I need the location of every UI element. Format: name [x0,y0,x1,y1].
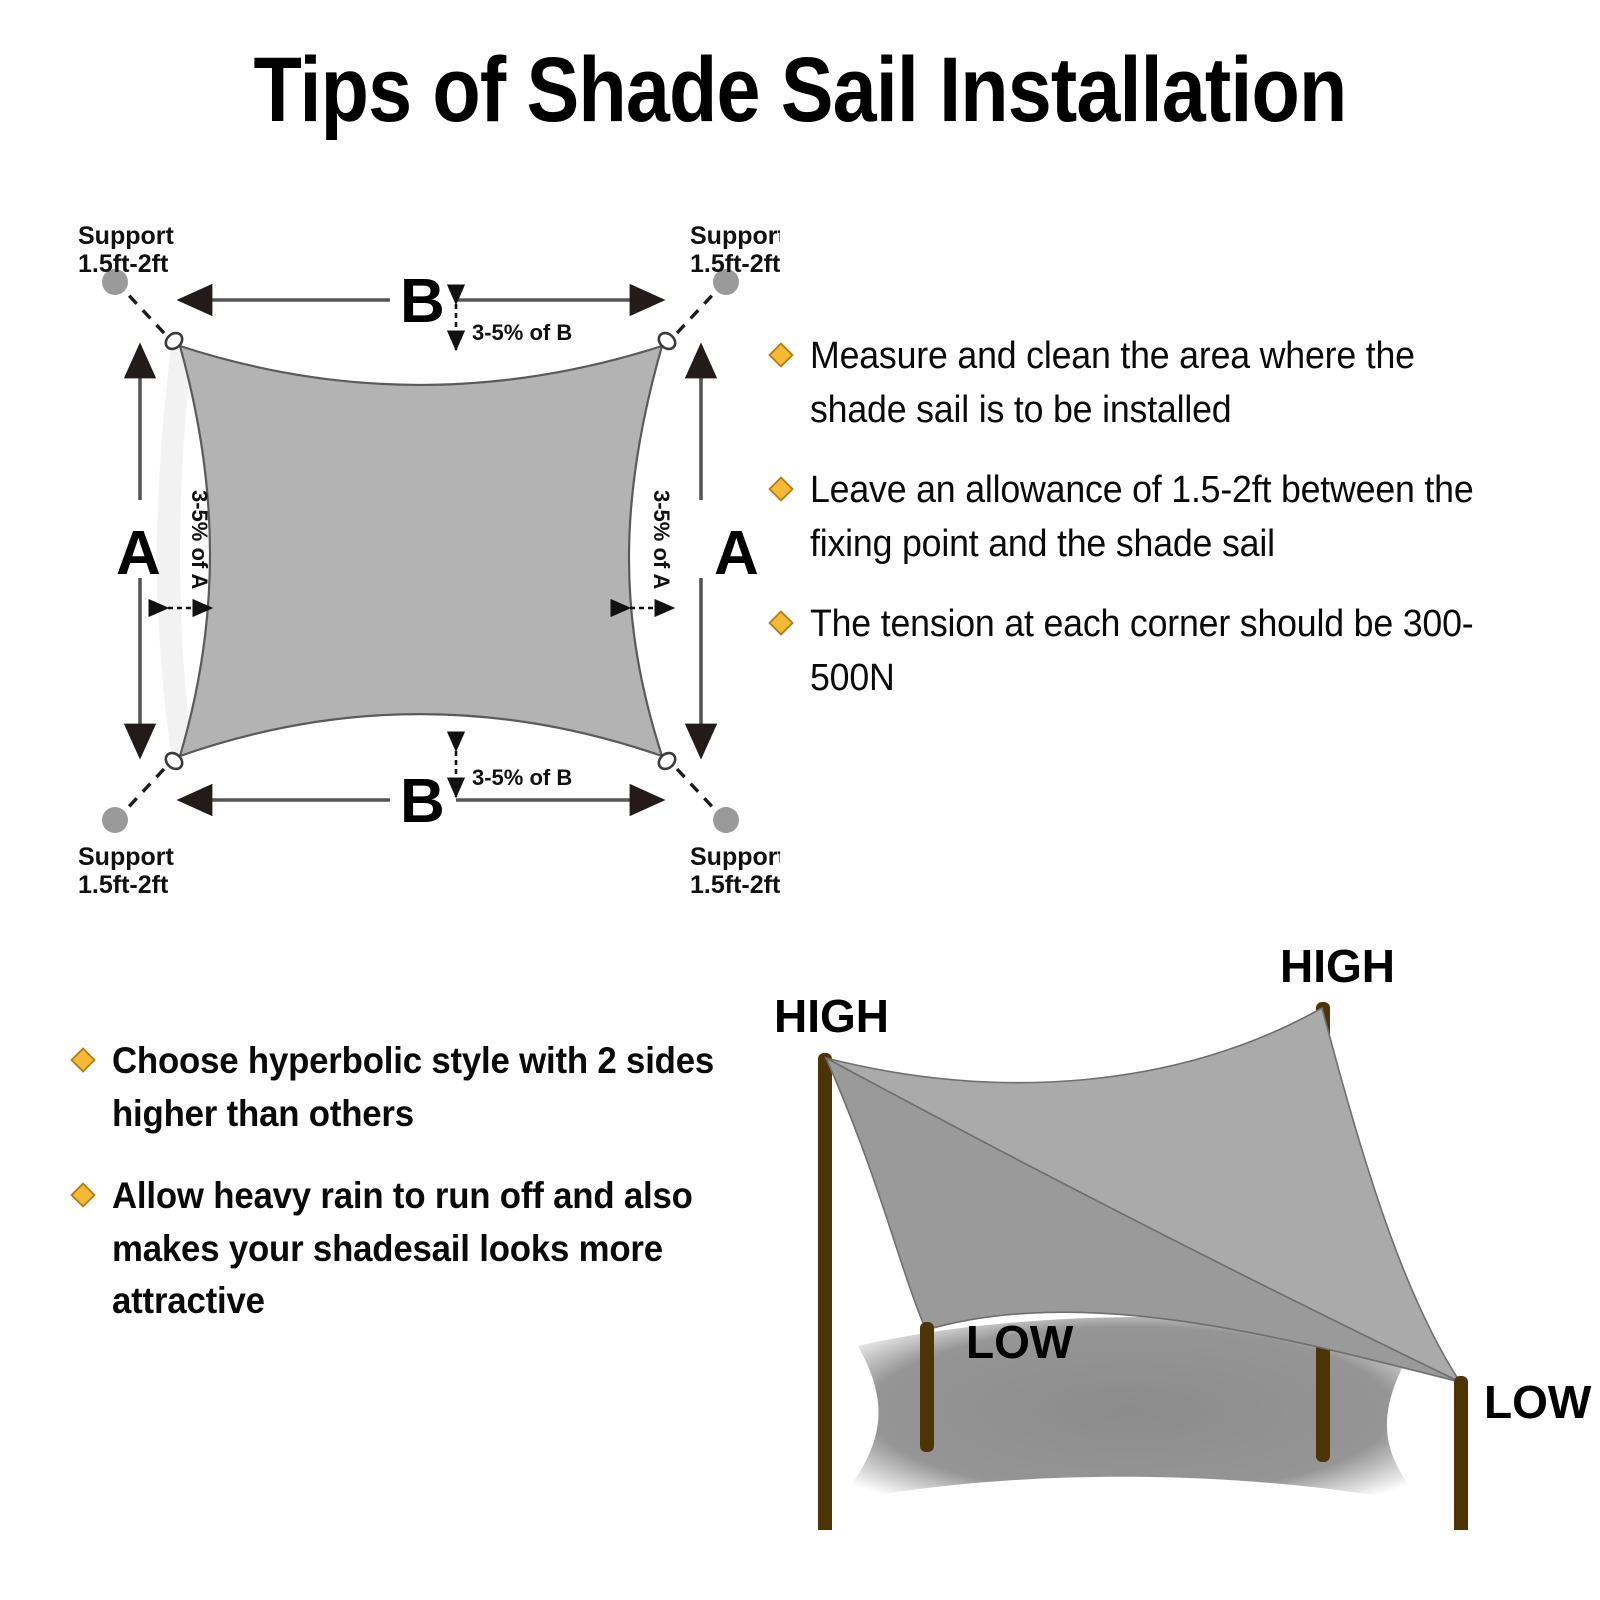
installation-tips-right-list: Measure and clean the area where the sha… [768,330,1558,732]
support-connector-top-left [102,269,164,333]
sail-left-edge-highlight [157,340,192,760]
tip-item: The tension at each corner should be 300… [768,598,1558,706]
post-label-back-left: HIGH [774,990,889,1042]
dimension-label-right-a: A [714,519,759,588]
support-connector-top-right [677,269,739,333]
shade-sail-body [180,346,662,756]
post-label-front-left: LOW [966,1316,1074,1368]
diamond-bullet-icon [768,610,794,636]
curvature-label-top: 3-5% of B [472,320,572,345]
support-connector-bottom-left [102,769,164,833]
support-label-top-right-line2: 1.5ft-2ft [690,250,780,278]
dimension-label-top-b: B [400,267,445,336]
support-connector-bottom-right [677,769,739,833]
rectangular-shade-sail-dimension-diagram: Support 1.5ft-2ft Support 1.5ft-2ft Supp… [60,200,780,900]
support-label-bottom-left-line2: 1.5ft-2ft [78,871,169,899]
tip-text: Leave an allowance of 1.5-2ft between th… [810,464,1513,572]
curvature-label-bottom: 3-5% of B [472,765,572,790]
diamond-bullet-icon [768,476,794,502]
tip-item: Allow heavy rain to run off and also mak… [70,1170,770,1328]
tip-text: Allow heavy rain to run off and also mak… [112,1170,731,1328]
tip-text: Choose hyperbolic style with 2 sides hig… [112,1035,731,1140]
diamond-bullet-icon [70,1047,96,1073]
support-label-top-right-line1: Support [690,222,780,250]
diamond-bullet-icon [70,1182,96,1208]
post-back-left [818,1053,832,1530]
support-label-bottom-left-line1: Support [78,843,174,871]
tip-item: Choose hyperbolic style with 2 sides hig… [70,1035,770,1140]
installation-tips-bottom-list: Choose hyperbolic style with 2 sides hig… [70,1035,770,1358]
support-label-top-left-line1: Support [78,222,174,250]
curvature-label-right: 3-5% of A [649,490,674,590]
dimension-label-bottom-b: B [400,767,445,836]
support-dot-bottom-left [102,807,128,833]
page-title: Tips of Shade Sail Installation [112,44,1488,136]
tip-text: The tension at each corner should be 300… [810,598,1513,706]
curvature-label-left: 3-5% of A [187,490,212,590]
support-label-top-left-line2: 1.5ft-2ft [78,250,169,278]
support-dot-bottom-right [713,807,739,833]
tip-item: Measure and clean the area where the sha… [768,330,1558,438]
post-label-front-right: LOW [1484,1376,1592,1428]
support-label-bottom-right-line1: Support [690,843,780,871]
tip-item: Leave an allowance of 1.5-2ft between th… [768,464,1558,572]
post-label-back-right: HIGH [1280,940,1395,992]
post-front-left [920,1322,934,1452]
tip-text: Measure and clean the area where the sha… [810,330,1513,438]
hyperbolic-shade-sail-diagram: HIGH HIGH LOW LOW [760,890,1600,1530]
post-front-right [1454,1376,1468,1530]
diamond-bullet-icon [768,342,794,368]
dimension-label-left-a: A [116,519,161,588]
sail-edge-highlight [157,340,192,760]
